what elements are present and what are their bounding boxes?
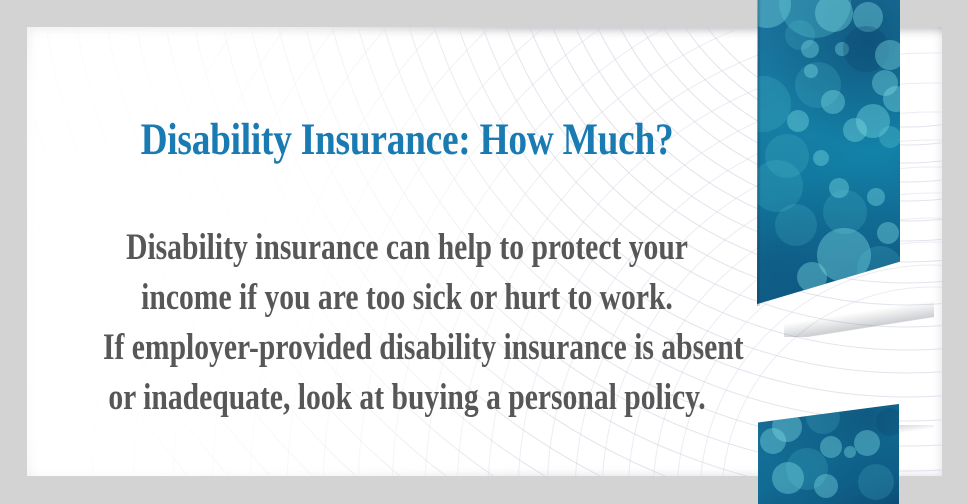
bubble bbox=[843, 118, 867, 142]
bubble bbox=[775, 204, 817, 246]
bubble bbox=[814, 474, 838, 498]
bokeh-panel-top bbox=[757, 0, 900, 306]
bubble bbox=[787, 110, 809, 132]
bubble bbox=[883, 86, 900, 112]
bubble bbox=[854, 430, 880, 456]
body-line-2: income if you are too sick or hurt to wo… bbox=[103, 273, 711, 323]
bubble bbox=[772, 462, 804, 494]
infographic-banner: Disability Insurance: How Much? Disabili… bbox=[0, 0, 968, 504]
bubble bbox=[757, 76, 791, 132]
page-title: Disability Insurance: How Much? bbox=[92, 113, 723, 165]
body-line-1: Disability insurance can help to protect… bbox=[103, 223, 711, 273]
bubble bbox=[867, 188, 885, 206]
bubble bbox=[879, 126, 900, 148]
body-line-4: or inadequate, look at buying a personal… bbox=[103, 373, 711, 423]
bubble bbox=[875, 40, 900, 70]
bubble bbox=[876, 408, 899, 436]
bubble bbox=[820, 436, 842, 458]
body-line-3: If employer-provided disability insuranc… bbox=[103, 323, 711, 373]
bubble bbox=[877, 222, 899, 244]
bubble bbox=[821, 90, 845, 114]
text-block: Disability Insurance: How Much? Disabili… bbox=[27, 27, 787, 476]
bubble bbox=[804, 64, 818, 78]
bubble bbox=[858, 464, 894, 500]
bubble bbox=[815, 0, 853, 32]
bubble bbox=[801, 40, 819, 58]
bubble bbox=[760, 428, 786, 454]
bubble bbox=[813, 150, 829, 166]
body-copy: Disability insurance can help to protect… bbox=[27, 223, 787, 423]
